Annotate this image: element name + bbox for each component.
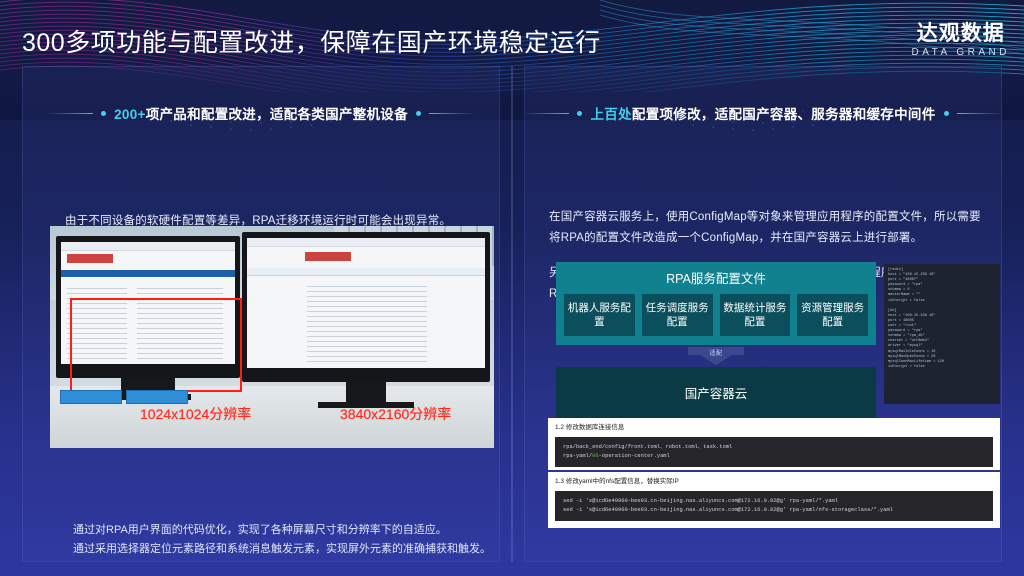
config-terminal-snippet: [redis] host = "106.15.239.16" port = "4… — [884, 264, 1000, 404]
diagram-box-data-stats: 数据统计服务配置 — [720, 294, 791, 336]
desk-tag-1 — [60, 390, 122, 404]
site-navbar-left — [61, 270, 235, 277]
monitor-left — [56, 236, 240, 378]
left-heading-highlight: 200+ — [114, 107, 146, 122]
heading-dot-right-2 — [944, 111, 949, 116]
monitor-right-stand — [346, 382, 386, 404]
diagram-box-resource-mgmt: 资源管理服务配置 — [797, 294, 868, 336]
right-paragraph-1: 在国产容器云服务上，使用ConfigMap等对象来管理应用程序的配置文件，所以需… — [549, 207, 983, 249]
heading-line-left-2 — [525, 113, 569, 114]
diagram-arrow-area: 适配 — [556, 345, 876, 367]
dual-monitor-photo: 1024x1024分辨率 3840x2160分辨率 — [50, 226, 494, 448]
right-section-heading: 上百处配置项修改，适配国产容器、服务器和缓存中间件 — [525, 103, 1001, 123]
browser-tabbar-left — [61, 242, 235, 251]
doc-card-db-config: 1.2 修改数据库连接信息 rpa/back_end/config/front.… — [548, 418, 1000, 470]
browser-tabbar-right — [247, 238, 485, 247]
gov-site-logo-right — [305, 252, 351, 261]
diagram-box-robot-service: 机器人服务配置 — [564, 294, 635, 336]
rpa-config-diagram: RPA服务配置文件 机器人服务配置 任务调度服务配置 数据统计服务配置 资源管理… — [556, 262, 876, 418]
heading-line-right-2 — [957, 113, 1001, 114]
heading-line-left — [49, 113, 93, 114]
brand-logo: 达观数据 DATA GRAND — [911, 22, 1010, 60]
site-navbar-right — [247, 268, 485, 276]
right-heading-rest: 配置项修改，适配国产容器、服务器和缓存中间件 — [632, 107, 936, 122]
diagram-top-container: RPA服务配置文件 机器人服务配置 任务调度服务配置 数据统计服务配置 资源管理… — [556, 262, 876, 345]
left-bottom-text: 通过对RPA用户界面的代码优化，实现了各种屏幕尺寸和分辨率下的自适应。 通过采用… — [73, 521, 503, 559]
left-bottom-line-2: 通过采用选择器定位元素路径和系统消息触发元素，实现屏外元素的准确捕获和触发。 — [73, 540, 503, 559]
diagram-box-row: 机器人服务配置 任务调度服务配置 数据统计服务配置 资源管理服务配置 — [564, 294, 868, 336]
doc-card-1-heading: 1.2 修改数据库连接信息 — [555, 423, 993, 433]
monitor-right-screen — [247, 238, 485, 368]
doc-card-2-code: sed -i 's@1cd6e49960-bee93.cn-beijing.na… — [555, 491, 993, 521]
brand-logo-cn: 达观数据 — [911, 22, 1010, 46]
desk-tag-2 — [126, 390, 188, 404]
left-bottom-line-1: 通过对RPA用户界面的代码优化，实现了各种屏幕尺寸和分辨率下的自适应。 — [73, 521, 503, 540]
left-section-heading: 200+项产品和配置改进，适配各类国产整机设备 — [23, 103, 499, 123]
right-heading-highlight: 上百处 — [590, 107, 631, 122]
resolution-label-left: 1024x1024分辨率 — [140, 406, 260, 423]
resolution-label-right: 3840x2160分辨率 — [340, 406, 460, 423]
left-heading-rest: 项产品和配置改进，适配各类国产整机设备 — [146, 107, 408, 122]
left-heading-text: 200+项产品和配置改进，适配各类国产整机设备 — [114, 103, 408, 123]
monitor-right — [242, 232, 490, 382]
doc1-code-line2-pre: rpa-yaml/ — [563, 453, 592, 459]
heading-dot-right — [416, 111, 421, 116]
heading-line-right — [429, 113, 473, 114]
doc-card-1-code: rpa/back_end/config/front.toml、robot.tom… — [555, 437, 993, 467]
gov-site-logo-left — [67, 254, 113, 263]
heading-dot-left — [101, 111, 106, 116]
doc1-code-line1: rpa/back_end/config/front.toml、robot.tom… — [563, 444, 732, 450]
content-lines-right — [307, 286, 427, 366]
doc2-code-line2: sed -i 's@1cd6e49960-bee93.cn-beijing.na… — [563, 507, 893, 513]
diagram-box-task-scheduler: 任务调度服务配置 — [642, 294, 713, 336]
doc-card-nfs-config: 1.3 修改yaml中的nfs配置信息，替换实际IP sed -i 's@1cd… — [548, 472, 1000, 528]
doc1-code-line2-post: -operation-center.yaml — [599, 453, 670, 459]
doc-card-2-heading: 1.3 修改yaml中的nfs配置信息，替换实际IP — [555, 477, 993, 487]
doc2-code-line1: sed -i 's@1cd6e49960-bee93.cn-beijing.na… — [563, 498, 838, 504]
page-title: 300多项功能与配置改进，保障在国产环境稳定运行 — [22, 26, 601, 60]
brand-logo-en: DATA GRAND — [911, 46, 1010, 60]
heading-dot-left-2 — [577, 111, 582, 116]
diagram-title: RPA服务配置文件 — [564, 269, 868, 289]
right-heading-text: 上百处配置项修改，适配国产容器、服务器和缓存中间件 — [590, 103, 935, 123]
diagram-arrow-label: 适配 — [709, 348, 722, 357]
diagram-bottom-container: 国产容器云 — [556, 367, 876, 418]
slide-root: 300多项功能与配置改进，保障在国产环境稳定运行 达观数据 DATA GRAND — [0, 0, 1024, 576]
panel-divider — [511, 66, 513, 562]
